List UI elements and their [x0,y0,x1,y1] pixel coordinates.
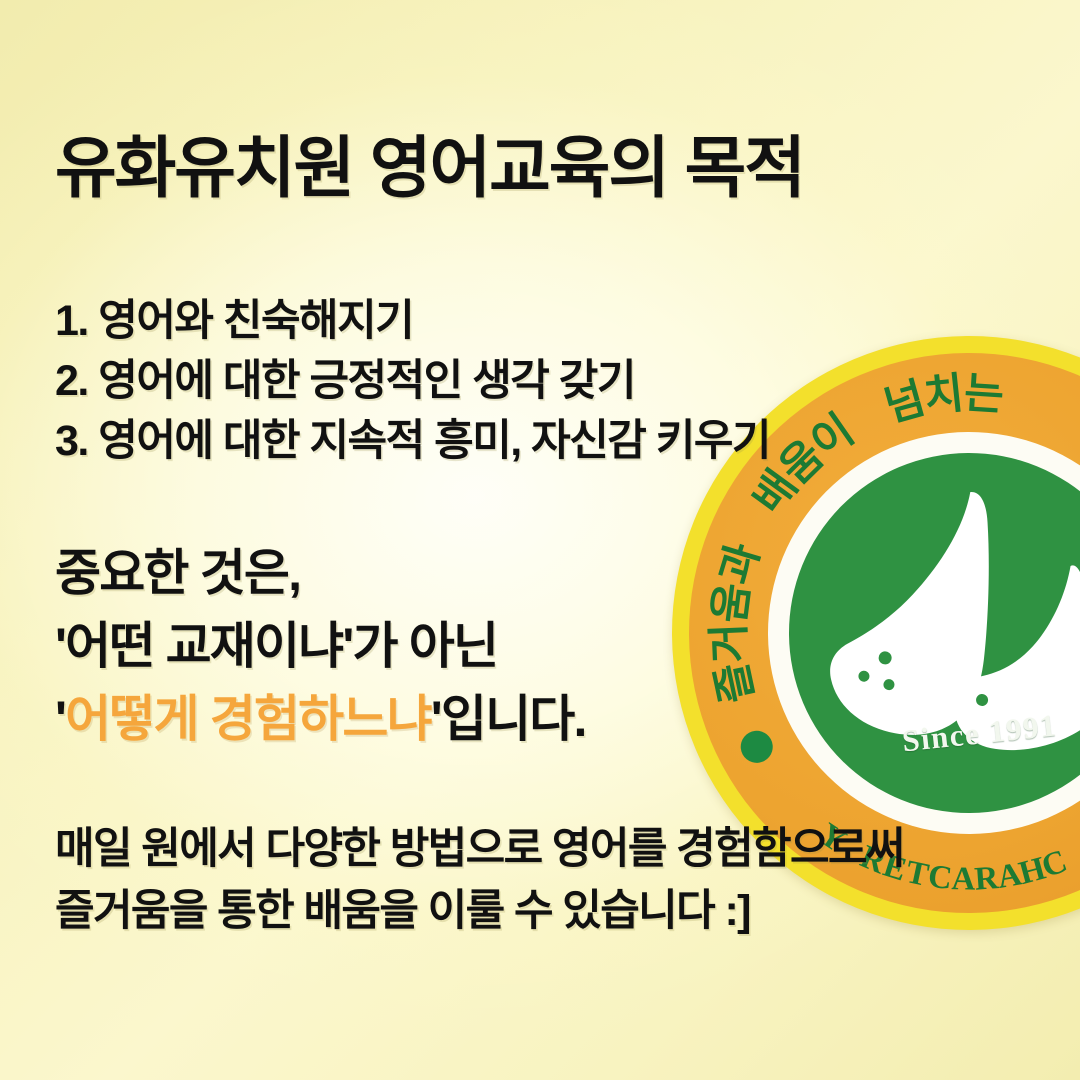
goal-item-2: 2. 영어에 대한 긍정적인 생각 갖기 [55,351,770,411]
emphasis-line-3: '어떻게 경험하느냐'입니다. [55,683,586,756]
emphasis-line-2: '어떤 교재이냐'가 아닌 [55,610,586,683]
poster-canvas: 즐거움과 배움이 넘치는 GOODTREE CHARACTER Y Since … [0,0,1080,1080]
emphasis-line-1: 중요한 것은, [55,537,586,610]
page-title: 유화유치원 영어교육의 목적 [55,132,804,206]
goal-list: 1. 영어와 친숙해지기 2. 영어에 대한 긍정적인 생각 갖기 3. 영어에… [55,291,770,471]
emphasis-highlight-phrase: 어떻게 경험하느냐 [65,691,431,747]
poster-text-content: 유화유치원 영어교육의 목적 1. 영어와 친숙해지기 2. 영어에 대한 긍정… [0,0,1080,1080]
closing-block: 매일 원에서 다양한 방법으로 영어를 경험함으로써 즐거움을 통한 배움을 이… [55,818,904,942]
goal-item-1: 1. 영어와 친숙해지기 [55,291,770,351]
goal-item-3: 3. 영어에 대한 지속적 흥미, 자신감 키우기 [55,411,770,471]
emphasis-close-quote: '입니다. [431,691,586,747]
emphasis-block: 중요한 것은, '어떤 교재이냐'가 아닌 '어떻게 경험하느냐'입니다. [55,537,586,756]
closing-line-2: 즐거움을 통한 배움을 이룰 수 있습니다 :] [55,880,904,942]
closing-line-1: 매일 원에서 다양한 방법으로 영어를 경험함으로써 [55,818,904,880]
emphasis-open-quote: ' [55,691,65,747]
